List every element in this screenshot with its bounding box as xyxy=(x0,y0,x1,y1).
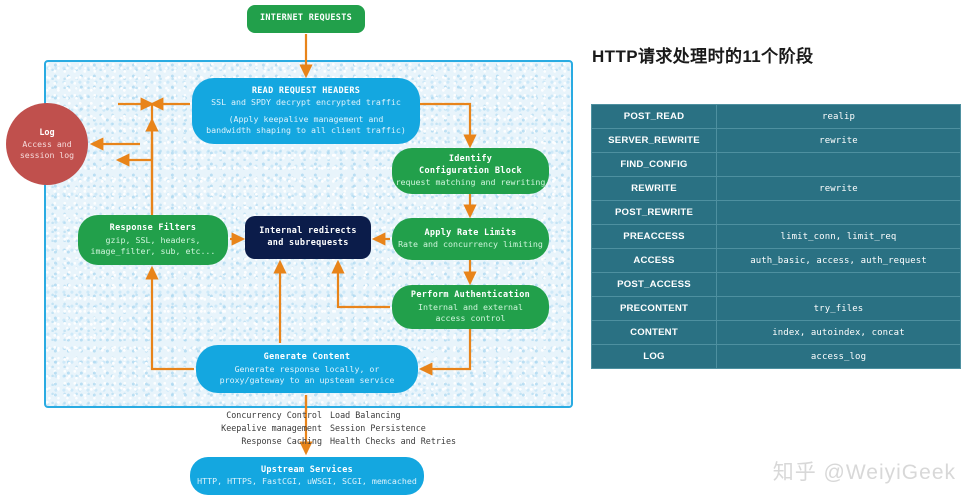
footnote-item: Session Persistence xyxy=(330,422,490,435)
node-line-1: Internal and external xyxy=(418,302,523,313)
node-line-2: access control xyxy=(436,313,506,324)
node-internet-requests[interactable]: INTERNET REQUESTS xyxy=(247,5,365,33)
phase-name-cell: ACCESS xyxy=(592,249,717,273)
footnote-item: Keepalive management xyxy=(196,422,322,435)
phase-modules-cell: try_files xyxy=(717,297,961,321)
phase-name-cell: FIND_CONFIG xyxy=(592,153,717,177)
phase-modules-cell: rewrite xyxy=(717,177,961,201)
footnote-item: Concurrency Control xyxy=(196,409,322,422)
node-line-1: Access and xyxy=(22,139,71,150)
phase-table-body: POST_READrealipSERVER_REWRITErewriteFIND… xyxy=(592,105,961,369)
page-title: HTTP请求处理时的11个阶段 xyxy=(592,42,813,67)
table-row: FIND_CONFIG xyxy=(592,153,961,177)
phase-name-cell: CONTENT xyxy=(592,321,717,345)
table-row: POST_READrealip xyxy=(592,105,961,129)
phase-name-cell: LOG xyxy=(592,345,717,369)
phase-module-table: POST_READrealipSERVER_REWRITErewriteFIND… xyxy=(591,104,961,369)
watermark: 知乎 @WeiyiGeek xyxy=(773,456,956,486)
node-title-2: and subrequests xyxy=(267,238,348,249)
node-read-request-headers[interactable]: READ REQUEST HEADERS SSL and SPDY decryp… xyxy=(192,78,420,144)
node-generate-content[interactable]: Generate Content Generate response local… xyxy=(196,345,418,393)
node-identify-configuration-block[interactable]: Identify Configuration Block request mat… xyxy=(392,148,549,194)
phase-name-cell: POST_ACCESS xyxy=(592,273,717,297)
node-title: Internal redirects xyxy=(259,226,357,237)
node-line-1: SSL and SPDY decrypt encrypted traffic xyxy=(211,97,401,108)
phase-modules-cell: rewrite xyxy=(717,129,961,153)
node-log[interactable]: Log Access and session log xyxy=(6,103,88,185)
footnote-item: Response Caching xyxy=(196,435,322,448)
phase-modules-cell: realip xyxy=(717,105,961,129)
phase-modules-cell: access_log xyxy=(717,345,961,369)
table-row: SERVER_REWRITErewrite xyxy=(592,129,961,153)
right-panel: HTTP请求处理时的11个阶段 POST_READrealipSERVER_RE… xyxy=(580,0,972,500)
footnotes-left: Concurrency Control Keepalive management… xyxy=(196,409,322,447)
node-line-2: proxy/gateway to an upsteam service xyxy=(220,375,395,386)
table-row: PRECONTENTtry_files xyxy=(592,297,961,321)
node-title-2: Configuration Block xyxy=(419,166,522,177)
node-title: Apply Rate Limits xyxy=(424,228,516,239)
phase-name-cell: PRECONTENT xyxy=(592,297,717,321)
node-title: Response Filters xyxy=(110,223,197,234)
node-title: Upstream Services xyxy=(261,465,353,476)
table-row: CONTENTindex, autoindex, concat xyxy=(592,321,961,345)
footnotes-right: Load Balancing Session Persistence Healt… xyxy=(330,409,490,447)
footnote-item: Health Checks and Retries xyxy=(330,435,490,448)
table-row: REWRITErewrite xyxy=(592,177,961,201)
table-row: ACCESSauth_basic, access, auth_request xyxy=(592,249,961,273)
phase-modules-cell xyxy=(717,273,961,297)
node-line-1: gzip, SSL, headers, xyxy=(106,235,201,246)
node-title: Perform Authentication xyxy=(411,290,530,301)
table-row: LOGaccess_log xyxy=(592,345,961,369)
node-line-3: bandwidth shaping to all client traffic) xyxy=(206,125,406,136)
node-title: Identify xyxy=(449,154,492,165)
node-line-1: request matching and rewriting xyxy=(396,177,546,188)
node-response-filters[interactable]: Response Filters gzip, SSL, headers, ima… xyxy=(78,215,228,265)
node-apply-rate-limits[interactable]: Apply Rate Limits Rate and concurrency l… xyxy=(392,218,549,260)
table-row: POST_ACCESS xyxy=(592,273,961,297)
page-root: INTERNET REQUESTS Log Access and session… xyxy=(0,0,972,500)
phase-modules-cell: auth_basic, access, auth_request xyxy=(717,249,961,273)
node-line-2: (Apply keepalive management and xyxy=(229,114,384,125)
table-row: POST_REWRITE xyxy=(592,201,961,225)
node-internal-redirects[interactable]: Internal redirects and subrequests xyxy=(245,216,371,259)
phase-modules-cell: index, autoindex, concat xyxy=(717,321,961,345)
phase-modules-cell: limit_conn, limit_req xyxy=(717,225,961,249)
node-title: Log xyxy=(39,128,54,139)
node-line-1: HTTP, HTTPS, FastCGI, uWSGI, SCGI, memca… xyxy=(197,476,417,487)
node-line-2: image_filter, sub, etc... xyxy=(91,246,216,257)
phase-modules-cell xyxy=(717,201,961,225)
phase-name-cell: REWRITE xyxy=(592,177,717,201)
node-title: Generate Content xyxy=(264,352,351,363)
node-perform-authentication[interactable]: Perform Authentication Internal and exte… xyxy=(392,285,549,329)
phase-name-cell: SERVER_REWRITE xyxy=(592,129,717,153)
phase-name-cell: POST_REWRITE xyxy=(592,201,717,225)
phase-name-cell: PREACCESS xyxy=(592,225,717,249)
nginx-request-flow-diagram: INTERNET REQUESTS Log Access and session… xyxy=(0,0,580,500)
node-title: READ REQUEST HEADERS xyxy=(252,86,360,97)
footnote-item: Load Balancing xyxy=(330,409,490,422)
node-line-1: Rate and concurrency limiting xyxy=(398,239,543,250)
node-title: INTERNET REQUESTS xyxy=(260,13,352,24)
node-line-2: session log xyxy=(20,150,74,161)
table-row: PREACCESSlimit_conn, limit_req xyxy=(592,225,961,249)
node-line-1: Generate response locally, or xyxy=(235,364,380,375)
phase-modules-cell xyxy=(717,153,961,177)
phase-name-cell: POST_READ xyxy=(592,105,717,129)
node-upstream-services[interactable]: Upstream Services HTTP, HTTPS, FastCGI, … xyxy=(190,457,424,495)
